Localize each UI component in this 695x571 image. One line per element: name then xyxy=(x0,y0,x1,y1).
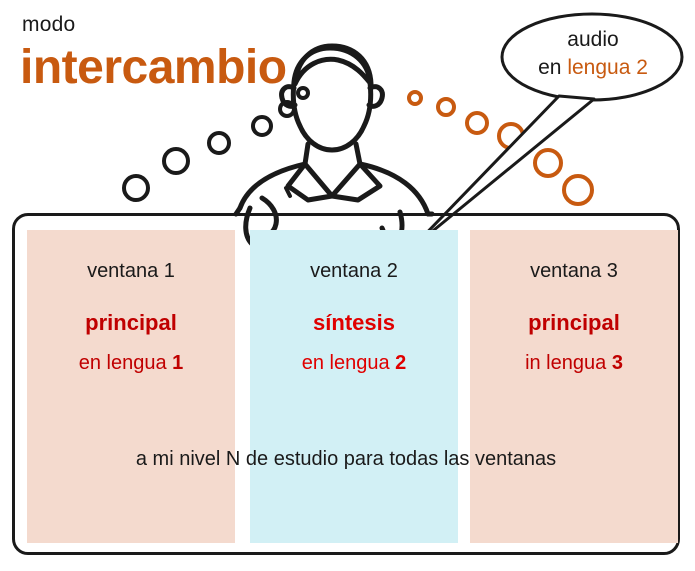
window-2-language: en lengua 2 xyxy=(250,352,458,375)
speech-bubble-line-2-highlight: lengua 2 xyxy=(567,56,648,79)
right-bubble-trail xyxy=(409,92,592,204)
window-column-2[interactable]: ventana 2 síntesis en lengua 2 xyxy=(250,230,458,543)
speech-bubble-line-2: en lengua 2 xyxy=(503,54,683,82)
window-1-language-prefix: en lengua xyxy=(79,352,167,374)
window-1-language: en lengua 1 xyxy=(27,352,235,375)
page-title: intercambio xyxy=(20,40,287,95)
speech-bubble-line-1: audio xyxy=(503,26,683,54)
speech-bubble-line-2-prefix: en xyxy=(538,56,561,79)
kicker-label: modo xyxy=(22,13,75,37)
speech-bubble-text: audio en lengua 2 xyxy=(503,26,683,82)
window-3-language-number: 3 xyxy=(612,352,623,374)
accent-mark xyxy=(286,188,290,196)
window-3-kind: principal xyxy=(470,310,678,336)
window-1-title: ventana 1 xyxy=(27,260,235,283)
window-1-kind: principal xyxy=(27,310,235,336)
footer-note: a mi nivel N de estudio para todas las v… xyxy=(12,448,680,471)
window-3-language-prefix: in lengua xyxy=(525,352,606,374)
window-2-language-number: 2 xyxy=(395,352,406,374)
left-bubble-trail xyxy=(124,88,308,200)
window-2-language-prefix: en lengua xyxy=(302,352,390,374)
window-2-title: ventana 2 xyxy=(250,260,458,283)
diagram-canvas: modo intercambio xyxy=(0,0,695,571)
window-column-3[interactable]: ventana 3 principal in lengua 3 xyxy=(470,230,678,543)
window-2-kind: síntesis xyxy=(250,310,458,336)
window-3-language: in lengua 3 xyxy=(470,352,678,375)
window-1-language-number: 1 xyxy=(172,352,183,374)
window-column-1[interactable]: ventana 1 principal en lengua 1 xyxy=(27,230,235,543)
window-3-title: ventana 3 xyxy=(470,260,678,283)
